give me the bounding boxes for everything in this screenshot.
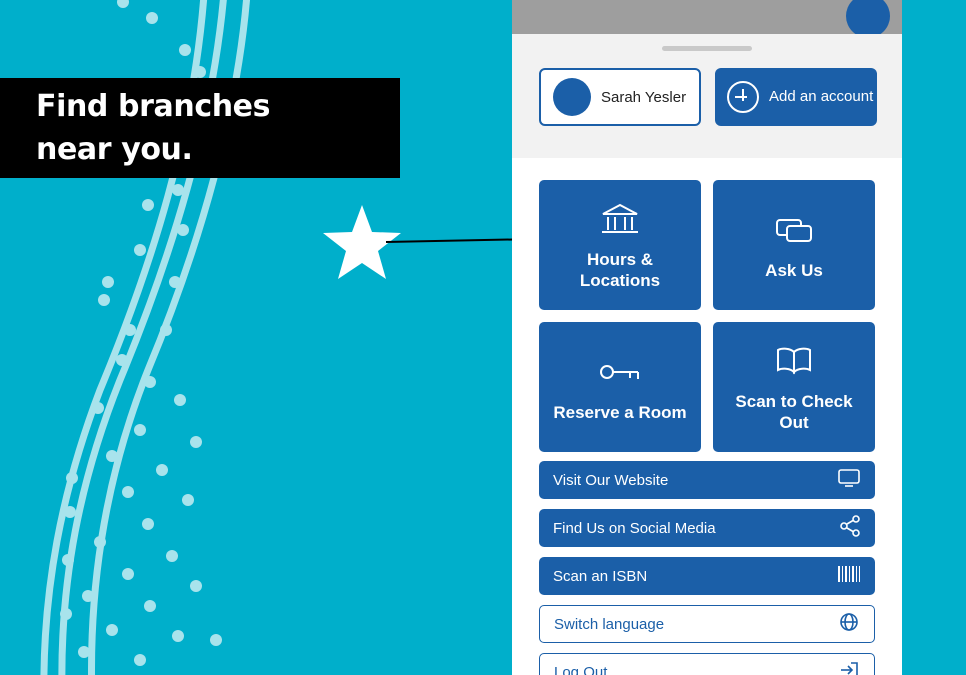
- row-log-out[interactable]: Log Out: [539, 653, 875, 675]
- tile-label: Reserve a Room: [553, 402, 686, 423]
- tile-label: Scan to Check Out: [721, 391, 867, 433]
- add-account-button[interactable]: Add an account: [715, 68, 877, 126]
- plus-icon: [727, 81, 759, 113]
- tile-ask-us[interactable]: Ask Us: [713, 180, 875, 310]
- sheet-grabber-handle[interactable]: [662, 46, 752, 51]
- account-avatar-icon: [553, 78, 591, 116]
- phone-status-bar: [512, 0, 902, 34]
- tile-label: Ask Us: [765, 260, 823, 281]
- current-account-name: Sarah Yesler: [601, 89, 686, 106]
- row-label: Visit Our Website: [553, 472, 668, 489]
- quick-actions-grid: Hours & Locations Ask Us Reserve a R: [539, 180, 875, 452]
- row-label: Find Us on Social Media: [553, 520, 716, 537]
- account-switcher-panel: Sarah Yesler Add an account: [512, 34, 902, 158]
- row-switch-language[interactable]: Switch language: [539, 605, 875, 643]
- share-icon: [839, 515, 861, 541]
- chat-bubbles-icon: [774, 210, 814, 250]
- promo-headline: Find branches near you.: [0, 78, 400, 178]
- tile-reserve-room[interactable]: Reserve a Room: [539, 322, 701, 452]
- row-label: Scan an ISBN: [553, 568, 647, 585]
- logout-icon: [838, 660, 860, 675]
- row-social-media[interactable]: Find Us on Social Media: [539, 509, 875, 547]
- row-visit-website[interactable]: Visit Our Website: [539, 461, 875, 499]
- phone-screen: Sarah Yesler Add an account Hours & Lo: [512, 0, 902, 675]
- tile-scan-check-out[interactable]: Scan to Check Out: [713, 322, 875, 452]
- current-account-chip[interactable]: Sarah Yesler: [539, 68, 701, 126]
- row-label: Switch language: [554, 616, 664, 633]
- row-label: Log Out: [554, 664, 607, 675]
- barcode-icon: [837, 565, 861, 587]
- row-scan-isbn[interactable]: Scan an ISBN: [539, 557, 875, 595]
- tile-label: Hours & Locations: [547, 249, 693, 291]
- promo-headline-line1: Find branches: [36, 85, 400, 128]
- promo-headline-line2: near you.: [36, 128, 400, 171]
- account-row: Sarah Yesler Add an account: [539, 68, 877, 126]
- key-icon: [598, 352, 642, 392]
- open-book-icon: [773, 341, 815, 381]
- avatar[interactable]: [846, 0, 890, 38]
- add-account-label: Add an account: [769, 88, 873, 106]
- tile-hours-locations[interactable]: Hours & Locations: [539, 180, 701, 310]
- globe-icon: [838, 611, 860, 637]
- library-building-icon: [599, 199, 641, 239]
- monitor-icon: [837, 468, 861, 492]
